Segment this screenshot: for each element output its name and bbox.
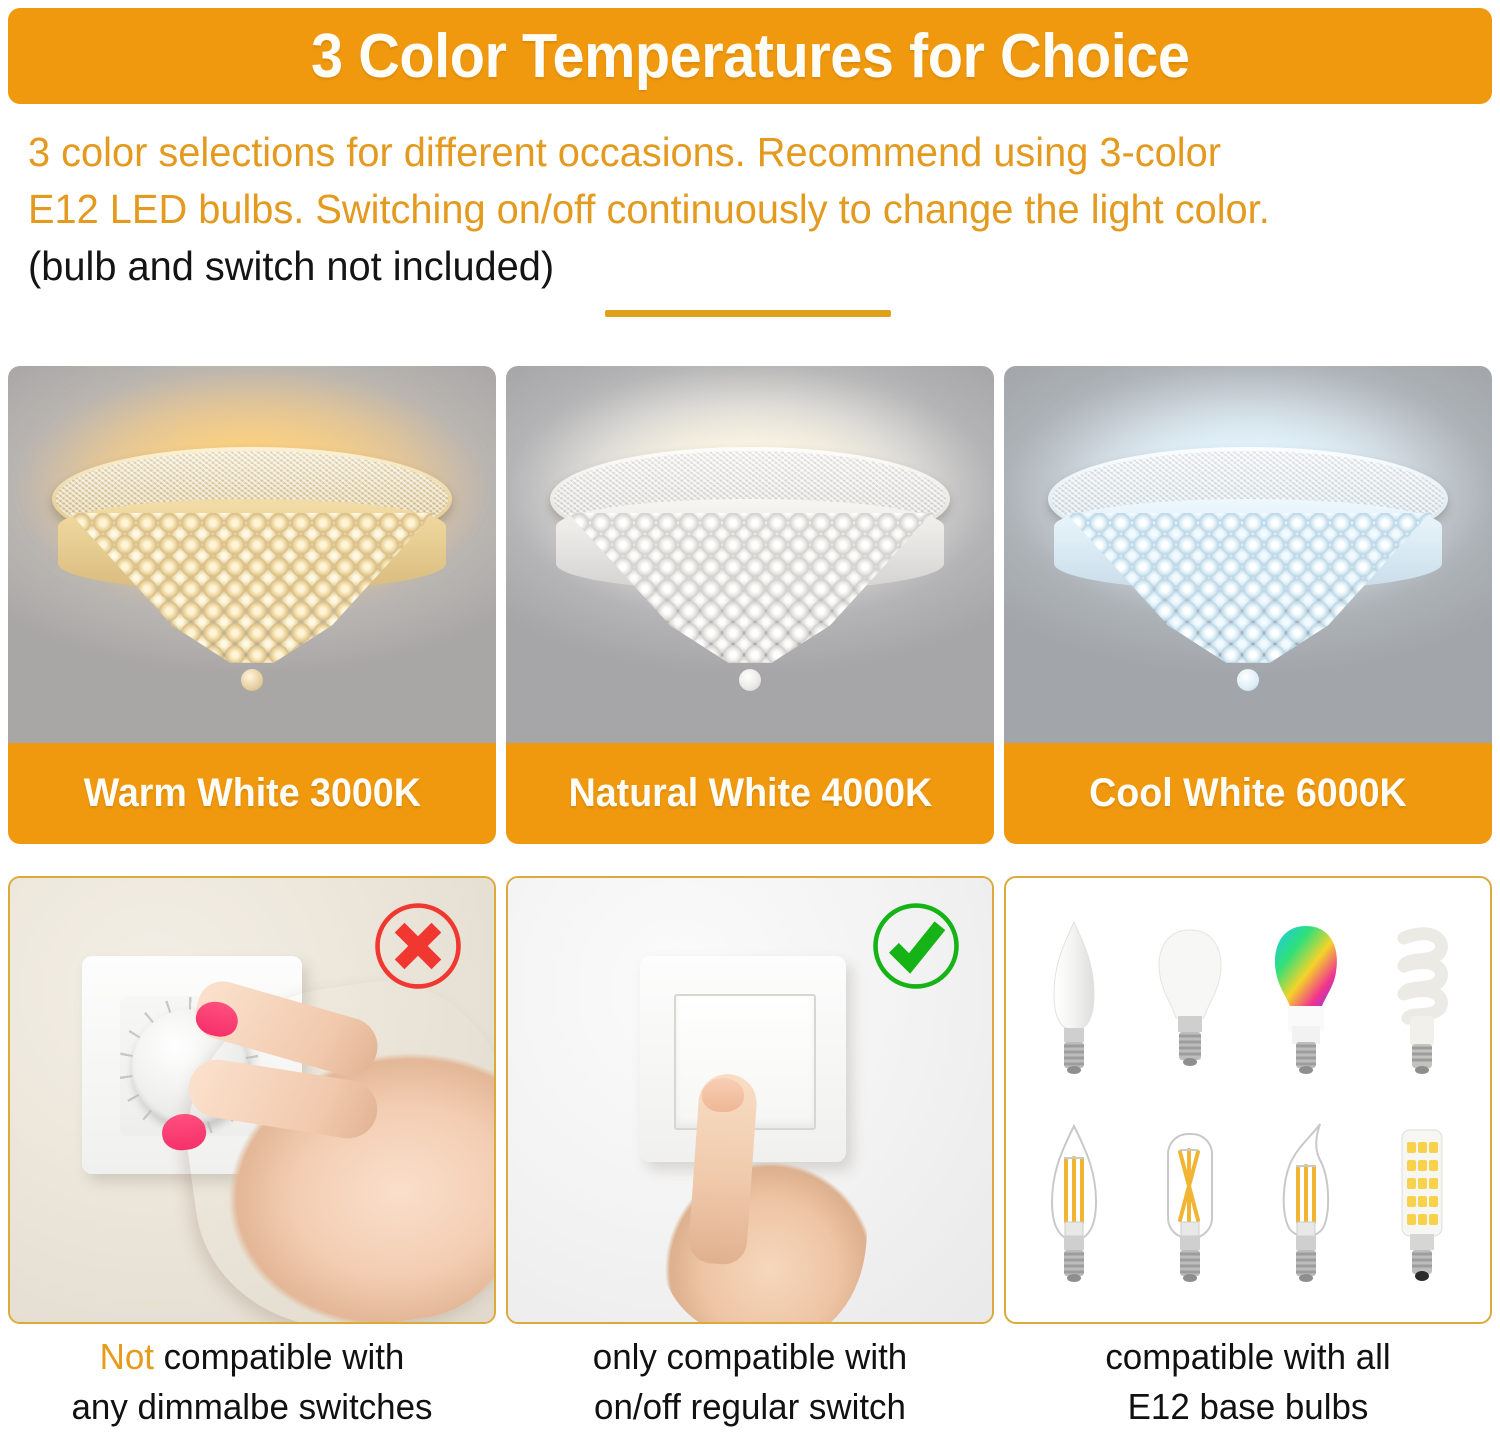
- temperature-label: Cool White 6000K: [1089, 771, 1407, 816]
- caption-bulbs: compatible with all E12 base bulbs: [1011, 1332, 1484, 1440]
- flame-tip-filament-bulb: [1258, 1116, 1354, 1292]
- caption-switch: only compatible with on/off regular swit…: [513, 1332, 986, 1440]
- crystal-ceiling-light-icon: [550, 447, 950, 677]
- caption-highlight: Not: [100, 1336, 154, 1377]
- crystal-ceiling-light-icon: [1048, 447, 1448, 677]
- section-divider: [605, 310, 891, 317]
- temperature-card: Cool White 6000K: [1004, 366, 1492, 844]
- intro-line-2: E12 LED bulbs. Switching on/off continuo…: [28, 181, 1425, 238]
- caption-line2: on/off regular switch: [594, 1386, 906, 1427]
- frosted-globe-bulb: [1142, 908, 1238, 1084]
- intro-line-3: (bulb and switch not included): [28, 238, 1425, 295]
- caption-line2: E12 base bulbs: [1128, 1386, 1369, 1427]
- caption-rest: compatible with: [154, 1336, 404, 1377]
- temperature-label: Warm White 3000K: [83, 771, 420, 816]
- temperature-label-bar: Natural White 4000K: [506, 743, 994, 844]
- cfl-spiral-bulb: [1374, 908, 1470, 1084]
- compatibility-card-switch: [506, 876, 994, 1324]
- rgb-color-changing-bulb: [1258, 908, 1354, 1084]
- temperature-card: Warm White 3000K: [8, 366, 496, 844]
- infographic-page: 3 Color Temperatures for Choice 3 color …: [0, 0, 1500, 1442]
- intro-paragraph: 3 color selections for different occasio…: [28, 124, 1468, 295]
- ceiling-light-photo-warm: [8, 366, 496, 743]
- compatibility-card-dimmer: [8, 876, 496, 1324]
- header-banner: 3 Color Temperatures for Choice: [8, 8, 1492, 104]
- color-temperature-row: Warm White 3000K Natural White 4000K: [8, 366, 1492, 844]
- intro-line-1: 3 color selections for different occasio…: [28, 124, 1425, 181]
- compatibility-card-bulbs: [1004, 876, 1492, 1324]
- clear-filament-candle-bulb: [1026, 1116, 1122, 1292]
- ceiling-light-photo-cool: [1004, 366, 1492, 743]
- caption-rest: only compatible with: [593, 1336, 907, 1377]
- ceramic-corn-led-bulb: [1374, 1116, 1470, 1292]
- temperature-card: Natural White 4000K: [506, 366, 994, 844]
- page-title: 3 Color Temperatures for Choice: [311, 21, 1189, 92]
- crystal-ceiling-light-icon: [52, 447, 452, 677]
- green-check-icon: [870, 900, 962, 992]
- temperature-label-bar: Cool White 6000K: [1004, 743, 1492, 844]
- caption-row: Not compatible with any dimmalbe switche…: [8, 1332, 1492, 1440]
- tubular-filament-bulb: [1142, 1116, 1238, 1292]
- compatibility-row: [8, 876, 1492, 1320]
- temperature-label-bar: Warm White 3000K: [8, 743, 496, 844]
- red-cross-icon: [372, 900, 464, 992]
- frosted-candle-bulb: [1026, 908, 1122, 1084]
- caption-dimmer: Not compatible with any dimmalbe switche…: [15, 1332, 488, 1440]
- caption-line2: any dimmalbe switches: [72, 1386, 433, 1427]
- temperature-label: Natural White 4000K: [568, 771, 932, 816]
- bulb-gallery: [1006, 878, 1490, 1322]
- ceiling-light-photo-natural: [506, 366, 994, 743]
- caption-rest: compatible with all: [1105, 1336, 1390, 1377]
